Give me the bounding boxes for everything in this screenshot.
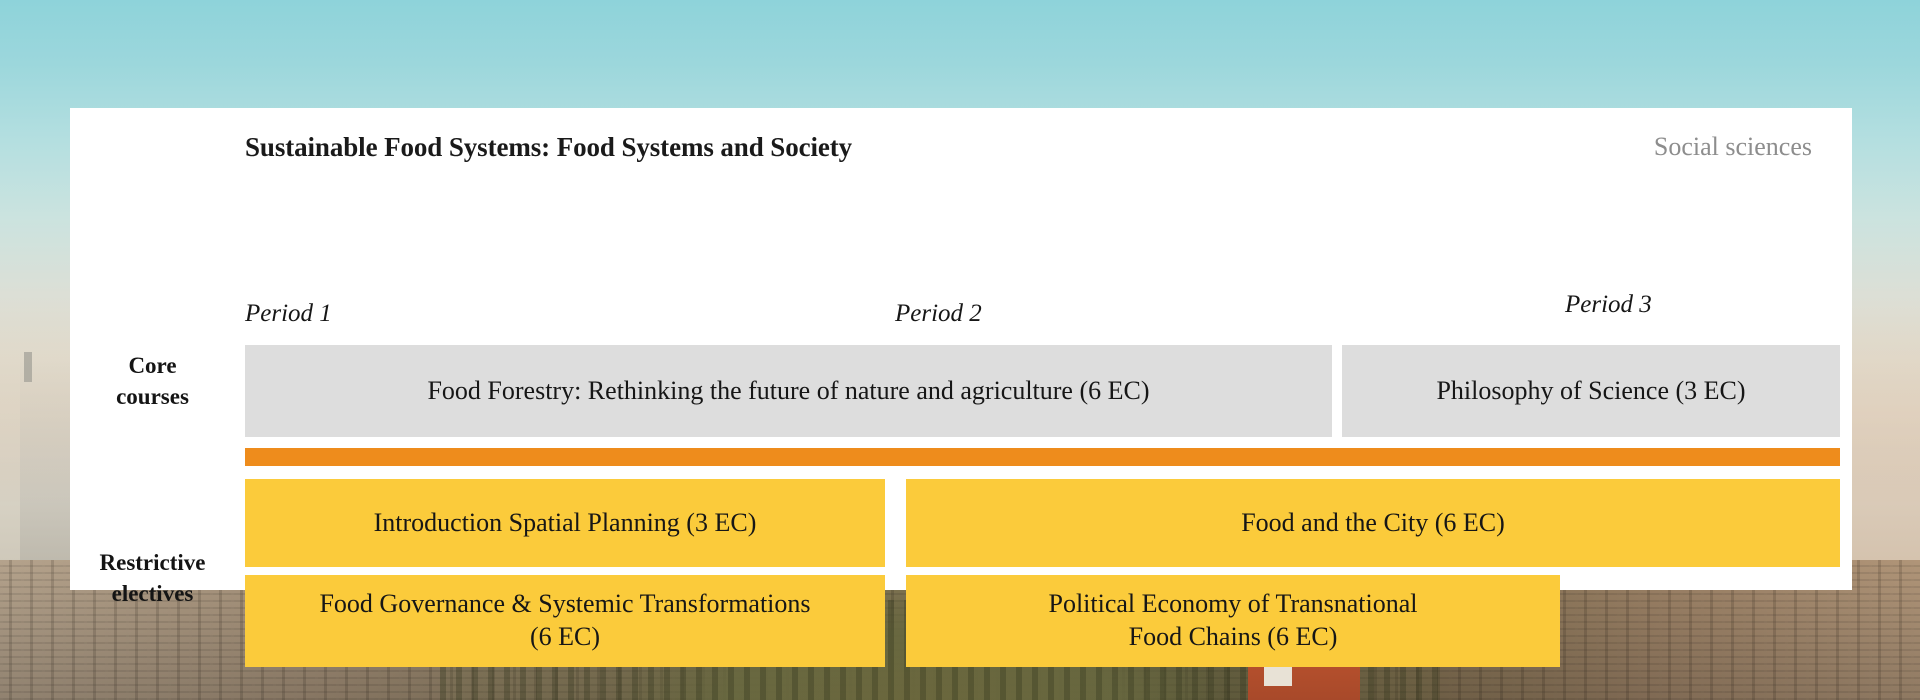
section-divider-bar <box>245 448 1840 466</box>
course-name-political-economy-line2: Food Chains (6 EC) <box>1129 622 1338 651</box>
curriculum-card: Sustainable Food Systems: Food Systems a… <box>70 108 1852 590</box>
card-header: Sustainable Food Systems: Food Systems a… <box>70 108 1852 178</box>
course-name-food-and-the-city: Food and the City (6 EC) <box>1241 507 1505 540</box>
course-name-food-governance-line2: (6 EC) <box>530 622 600 651</box>
course-name-food-governance-line1: Food Governance & Systemic Transformatio… <box>319 589 810 618</box>
course-name-food-forestry: Food Forestry: Rethinking the future of … <box>427 375 1149 408</box>
period-label-2: Period 2 <box>895 300 982 328</box>
discipline-badge: Social sciences <box>1654 132 1812 162</box>
row-label-electives-line2: electives <box>70 579 235 610</box>
course-name-food-governance: Food Governance & Systemic Transformatio… <box>319 588 810 654</box>
course-box-food-and-the-city[interactable]: Food and the City (6 EC) <box>906 479 1840 567</box>
course-box-introduction-spatial-planning[interactable]: Introduction Spatial Planning (3 EC) <box>245 479 885 567</box>
course-name-political-economy: Political Economy of Transnational Food … <box>1048 588 1417 654</box>
course-name-philosophy-of-science: Philosophy of Science (3 EC) <box>1436 375 1745 408</box>
course-box-food-forestry[interactable]: Food Forestry: Rethinking the future of … <box>245 345 1332 437</box>
distant-spire <box>24 352 32 382</box>
course-name-political-economy-line1: Political Economy of Transnational <box>1048 589 1417 618</box>
course-box-food-governance[interactable]: Food Governance & Systemic Transformatio… <box>245 575 885 667</box>
row-label-core-courses: Core courses <box>70 351 235 412</box>
row-label-core-line1: Core <box>70 351 235 382</box>
period-label-1: Period 1 <box>245 300 332 328</box>
page-title: Sustainable Food Systems: Food Systems a… <box>245 132 852 163</box>
period-label-3: Period 3 <box>1565 291 1652 319</box>
course-box-political-economy[interactable]: Political Economy of Transnational Food … <box>906 575 1560 667</box>
course-name-introduction-spatial-planning: Introduction Spatial Planning (3 EC) <box>374 507 757 540</box>
row-label-core-line2: courses <box>70 382 235 413</box>
row-label-restrictive-electives: Restrictive electives <box>70 548 235 609</box>
row-label-electives-line1: Restrictive <box>70 548 235 579</box>
course-box-philosophy-of-science[interactable]: Philosophy of Science (3 EC) <box>1342 345 1840 437</box>
